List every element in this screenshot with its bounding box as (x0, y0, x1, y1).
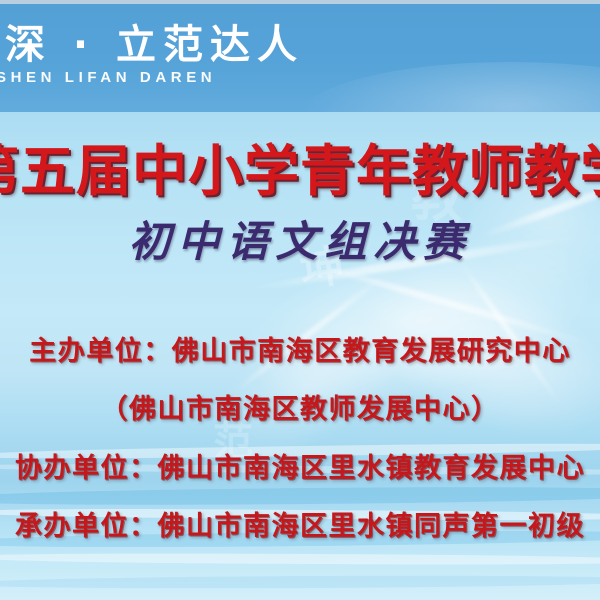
logo-pinyin-text: LIUSHEN LIFAN DAREN (0, 69, 304, 86)
mist-streak-4 (456, 258, 564, 409)
organizer-executor-line: 承办单位：佛山市南海区里水镇同声第一初级 (15, 513, 585, 540)
sub-title: 初中语文组决赛 (128, 208, 471, 269)
mist-streak-2 (305, 259, 595, 348)
organizer-host-alt-line: （佛山市南海区教师发展中心） (101, 396, 500, 423)
organizer-host-line: 主办单位：佛山市南海区教育发展研究中心 (29, 338, 571, 365)
logo-chinese-text: 流深 · 立范达人 (0, 24, 304, 66)
organizer-cohost-line: 协办单位：佛山市南海区里水镇教育发展中心 (15, 455, 585, 482)
water-band-7 (0, 574, 600, 590)
main-title: 第五届中小学青年教师教学 (0, 126, 600, 206)
top-banner: 流深 · 立范达人 LIUSHEN LIFAN DAREN (0, 0, 600, 112)
poster-canvas: 教 坤 范 流深 · 立范达人 LIUSHEN LIFAN DAREN 第五届中… (0, 0, 600, 600)
brand-logo: 流深 · 立范达人 LIUSHEN LIFAN DAREN (0, 24, 304, 86)
water-band-3 (0, 485, 600, 507)
banner-top-edge (0, 0, 600, 4)
mist-streak-3 (229, 269, 390, 397)
water-band-6 (0, 552, 600, 566)
